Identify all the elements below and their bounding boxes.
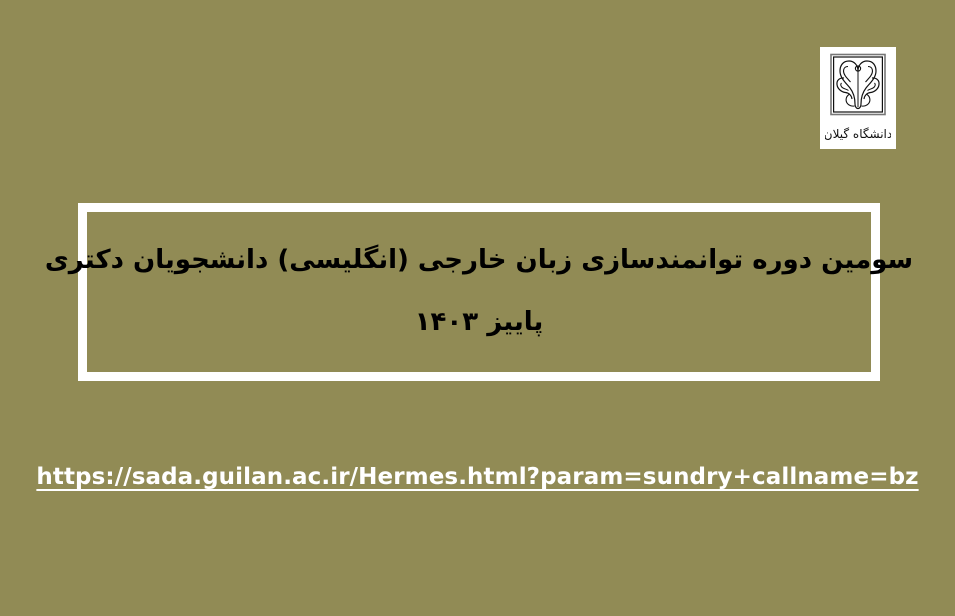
poster-canvas: دانشگاه گیلان سومین دوره توانمندسازی زبا… xyxy=(0,0,955,616)
headline-secondary: پاییز ۱۴۰۳ xyxy=(415,306,544,340)
university-logo: دانشگاه گیلان xyxy=(820,47,896,149)
headline-frame: سومین دوره توانمندسازی زبان خارجی (انگلی… xyxy=(78,203,880,381)
headline-primary: سومین دوره توانمندسازی زبان خارجی (انگلی… xyxy=(45,244,913,278)
guilan-emblem-icon xyxy=(828,52,888,118)
university-name-text: دانشگاه گیلان xyxy=(825,127,891,141)
registration-url-link[interactable]: https://sada.guilan.ac.ir/Hermes.html?pa… xyxy=(36,464,918,490)
university-name-calligraphy: دانشگاه گیلان xyxy=(825,119,891,145)
registration-url-row: https://sada.guilan.ac.ir/Hermes.html?pa… xyxy=(0,464,955,490)
